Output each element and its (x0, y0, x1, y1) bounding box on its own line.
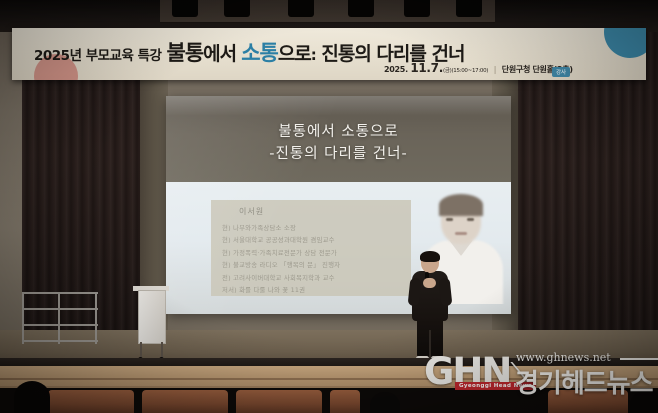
audience-head (14, 381, 50, 413)
banner-speaker-badge: 강사 (552, 67, 570, 77)
ceiling-light (288, 0, 314, 17)
projection-screen: 불통에서 소통으로 -진통의 다리를 건너- 이서원 현) 나무와가족상담소 소… (166, 96, 511, 314)
ceiling-light (172, 0, 198, 17)
ceiling-light-rail (160, 0, 495, 23)
stage-handrail (22, 292, 98, 344)
banner-time: (15:00~17:00) (451, 68, 488, 74)
ceiling-light (404, 0, 430, 17)
banner-date-year: 2025. (384, 65, 408, 74)
banner-word-sotong: 소통 (241, 41, 278, 65)
banner-colon: : (311, 46, 317, 64)
audience-chair (48, 390, 134, 413)
audience-head (370, 392, 400, 413)
portrait-hair (439, 194, 483, 216)
lecture-hall-photo: 불통에서 소통으로 -진통의 다리를 건너- 이서원 현) 나무와가족상담소 소… (0, 0, 658, 413)
bio-line: 저서) 화를 다룰 나와 꽃 11권 (222, 284, 405, 296)
watermark-rule (620, 358, 658, 360)
audience-chair (330, 390, 360, 413)
banner-word-eseo: 에서 (203, 43, 236, 65)
bio-line: 현) 불교방송 라디오 「행복의 문」 진행자 (222, 259, 405, 271)
presenter (408, 252, 452, 362)
bio-line: 전) 고려사이버대학교 사회복지학과 교수 (222, 272, 405, 284)
speaker-bio-box: 이서원 현) 나무와가족상담소 소장 현) 서울대학교 공공성과대학원 겸임교수… (211, 200, 411, 296)
bio-heading: 이서원 (239, 206, 264, 217)
banner-separator: | (494, 65, 497, 74)
portrait-eye (467, 218, 474, 221)
presenter-arm-right (439, 278, 453, 307)
banner-speaker-block: 강사 이서원교수 및 작가한국gender폭력연구소 소장 (548, 59, 645, 80)
bio-line: 현) 나무와가족상담소 소장 (222, 222, 405, 234)
ceiling-light (224, 0, 250, 17)
watermark: GHN⟍ Gyeonggi Head News www.ghnews.net 경… (424, 349, 658, 407)
slide-title: 불통에서 소통으로 -진통의 다리를 건너- (166, 122, 511, 166)
banner-word-euro: 으로 (278, 43, 311, 65)
bio-line: 현) 서울대학교 공공성과대학원 겸임교수 (222, 234, 405, 246)
bio-line: 현) 가정폭력·가족치료전문가 상담 전문가 (222, 247, 405, 259)
portrait-mouth (455, 232, 467, 235)
banner-word-bultong: 불통 (167, 41, 204, 65)
equipment-cart (138, 290, 166, 344)
banner-prefix: 2025년 부모교육 특강 (34, 48, 161, 64)
audience-chair (142, 390, 228, 413)
event-banner: 2025년 부모교육 특강 불통에서 소통으로: 진통의 다리를 건너 2025… (12, 28, 646, 80)
ceiling-light (456, 0, 482, 17)
portrait-eye (446, 218, 453, 221)
banner-date-day: 11.7. (410, 61, 443, 75)
ceiling-light (348, 0, 374, 17)
watermark-korean-name: 경기헤드뉴스 (515, 363, 653, 400)
slide-title-line1: 불통에서 소통으로 (166, 122, 511, 144)
presenter-hands (423, 278, 436, 288)
presenter-hair (420, 251, 440, 262)
audience-chair (236, 390, 322, 413)
bio-list: 현) 나무와가족상담소 소장 현) 서울대학교 공공성과대학원 겸임교수 현) … (222, 222, 405, 297)
slide-title-line2: -진통의 다리를 건너- (166, 144, 511, 166)
projector-glow (166, 96, 511, 116)
slide-body: 이서원 현) 나무와가족상담소 소장 현) 서울대학교 공공성과대학원 겸임교수… (166, 182, 511, 314)
banner-event-details: 2025. 11.7.(금)(15:00~17:00) | 단원구청 단원홀(2… (384, 61, 573, 75)
